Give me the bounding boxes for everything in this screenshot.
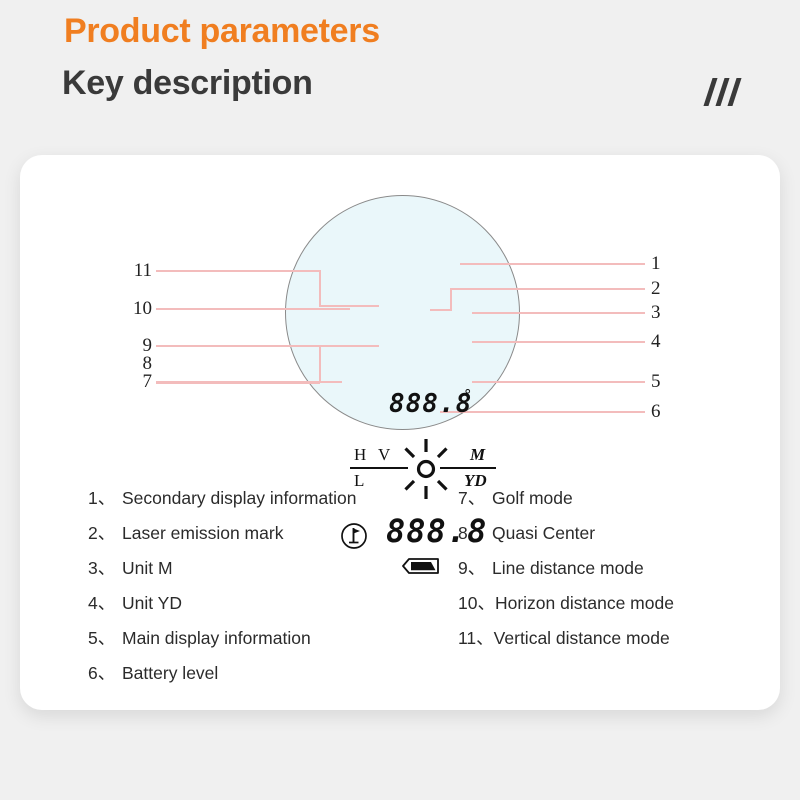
legend-number-10: 10、 (458, 590, 495, 615)
legend-item-6: 6、 Battery level (88, 660, 428, 695)
slash-bar-1 (703, 78, 717, 106)
legend-text-2: Laser emission mark (122, 523, 283, 544)
leader-line-1 (460, 263, 645, 265)
callout-number-11: 11 (112, 261, 152, 280)
leader-line-2-hook (430, 309, 452, 311)
callout-number-7: 7 (112, 372, 152, 391)
legend-number-9: 9、 (458, 555, 492, 580)
mode-label-v: V (378, 445, 390, 465)
mode-unit-divider (440, 467, 496, 469)
unit-label-m: M (470, 445, 485, 465)
legend-text-1: Secondary display information (122, 488, 356, 509)
callout-number-10: 10 (112, 299, 152, 318)
legend-number-7: 7、 (458, 485, 492, 510)
callout-number-2: 2 (651, 279, 691, 298)
legend-text-7: Golf mode (492, 488, 573, 509)
legend-item-8: 8、 Quasi Center (458, 520, 758, 555)
legend-number-1: 1、 (88, 485, 122, 510)
leader-line-2-vertical (450, 288, 452, 310)
legend-number-3: 3、 (88, 555, 122, 580)
legend-text-9: Line distance mode (492, 558, 644, 579)
secondary-display-value: 888.8 (389, 391, 472, 417)
callout-number-4: 4 (651, 332, 691, 351)
legend-text-8: Quasi Center (492, 523, 595, 544)
legend-number-5: 5、 (88, 625, 122, 650)
content-card: 11 10 9 8 7 1 2 3 4 5 6 888.8 ° H V L (20, 155, 780, 710)
legend-item-10: 10、 Horizon distance mode (458, 590, 758, 625)
legend-number-2: 2、 (88, 520, 122, 545)
legend-text-5: Main display information (122, 628, 311, 649)
legend-item-3: 3、 Unit M (88, 555, 428, 590)
leader-line-2 (450, 288, 645, 290)
page-subtitle: Key description (62, 64, 313, 103)
leader-line-8-vertical (319, 345, 321, 383)
three-slashes-icon (706, 78, 752, 108)
callout-number-6: 6 (651, 402, 691, 421)
leader-line-10 (156, 308, 350, 310)
leader-line-4 (472, 341, 645, 343)
leader-line-7-final (156, 381, 342, 383)
legend-text-11: Vertical distance mode (494, 628, 670, 649)
callout-number-5: 5 (651, 372, 691, 391)
leader-line-8-hook (319, 345, 379, 347)
slash-bar-2 (715, 78, 729, 106)
legend-item-2: 2、 Laser emission mark (88, 520, 428, 555)
legend-item-11: 11、 Vertical distance mode (458, 625, 758, 660)
leader-line-11-hook (319, 305, 379, 307)
leader-line-11-vertical (319, 270, 321, 306)
degree-symbol: ° (464, 386, 472, 404)
legend-column-right: 7、 Golf mode 8、 Quasi Center 9、 Line dis… (458, 485, 758, 660)
legend-item-1: 1、 Secondary display information (88, 485, 428, 520)
leader-line-3 (472, 312, 645, 314)
main-display-value: 888.8 (386, 515, 487, 547)
legend-text-3: Unit M (122, 558, 173, 579)
legend-text-6: Battery level (122, 663, 218, 684)
legend-text-10: Horizon distance mode (495, 593, 674, 614)
callout-number-3: 3 (651, 303, 691, 322)
leader-line-11 (156, 270, 320, 272)
leader-line-5 (472, 381, 645, 383)
page-title: Product parameters (64, 12, 380, 51)
mode-label-h: H (354, 445, 366, 465)
legend-text-4: Unit YD (122, 593, 182, 614)
legend-number-4: 4、 (88, 590, 122, 615)
legend-number-11: 11、 (458, 625, 494, 650)
callout-number-1: 1 (651, 254, 691, 273)
page-header: Product parameters Key description (0, 0, 800, 150)
legend-item-9: 9、 Line distance mode (458, 555, 758, 590)
slash-bar-3 (727, 78, 741, 106)
legend-item-5: 5、 Main display information (88, 625, 428, 660)
legend-column-left: 1、 Secondary display information 2、 Lase… (88, 485, 428, 695)
display-diagram: 11 10 9 8 7 1 2 3 4 5 6 888.8 ° H V L (20, 155, 780, 475)
legend-item-4: 4、 Unit YD (88, 590, 428, 625)
legend-item-7: 7、 Golf mode (458, 485, 758, 520)
legend-number-6: 6、 (88, 660, 122, 685)
